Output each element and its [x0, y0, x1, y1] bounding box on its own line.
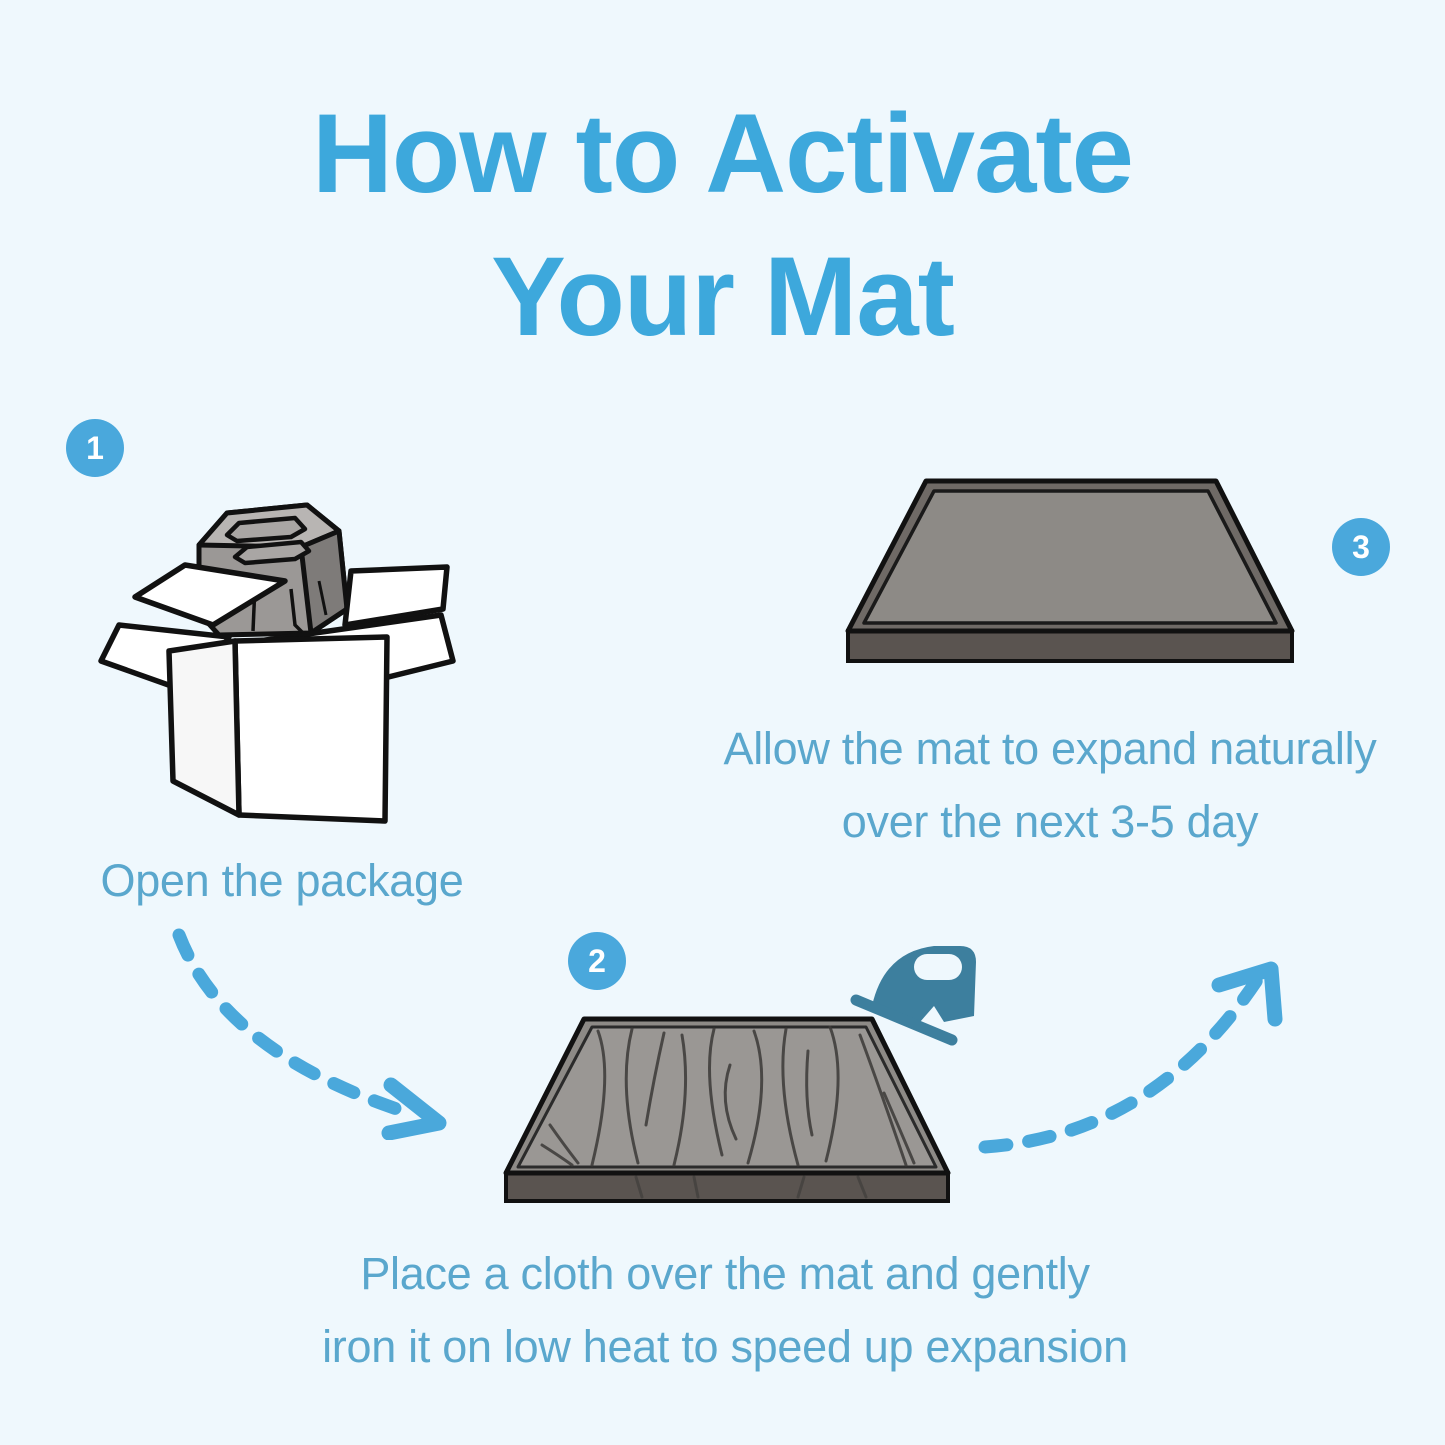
page-title-line-2: Your Mat — [0, 225, 1445, 368]
step-3-caption-line-2: over the next 3-5 day — [842, 796, 1258, 847]
step-2-caption-line-2: iron it on low heat to speed up expansio… — [322, 1321, 1128, 1372]
step-badge-1: 1 — [66, 419, 124, 477]
expanded-mat-illustration — [826, 465, 1306, 685]
step-2-caption-line-1: Place a cloth over the mat and gently — [360, 1248, 1089, 1299]
page-title: How to Activate Your Mat — [0, 82, 1445, 369]
step-1-caption: Open the package — [32, 845, 532, 918]
step-2-caption: Place a cloth over the mat and gently ir… — [255, 1238, 1195, 1384]
step-badge-2: 2 — [568, 932, 626, 990]
page-title-line-1: How to Activate — [0, 82, 1445, 225]
open-box-illustration — [95, 485, 475, 835]
infographic-canvas: How to Activate Your Mat 1 — [0, 0, 1445, 1445]
step-3-caption: Allow the mat to expand naturally over t… — [670, 713, 1430, 859]
step-badge-3: 3 — [1332, 518, 1390, 576]
dashed-arrow-step1-to-step2 — [165, 925, 495, 1140]
step-3-caption-line-1: Allow the mat to expand naturally — [724, 723, 1377, 774]
mat-with-cloth-illustration — [486, 1005, 966, 1235]
dashed-arrow-step2-to-step3 — [975, 955, 1295, 1160]
